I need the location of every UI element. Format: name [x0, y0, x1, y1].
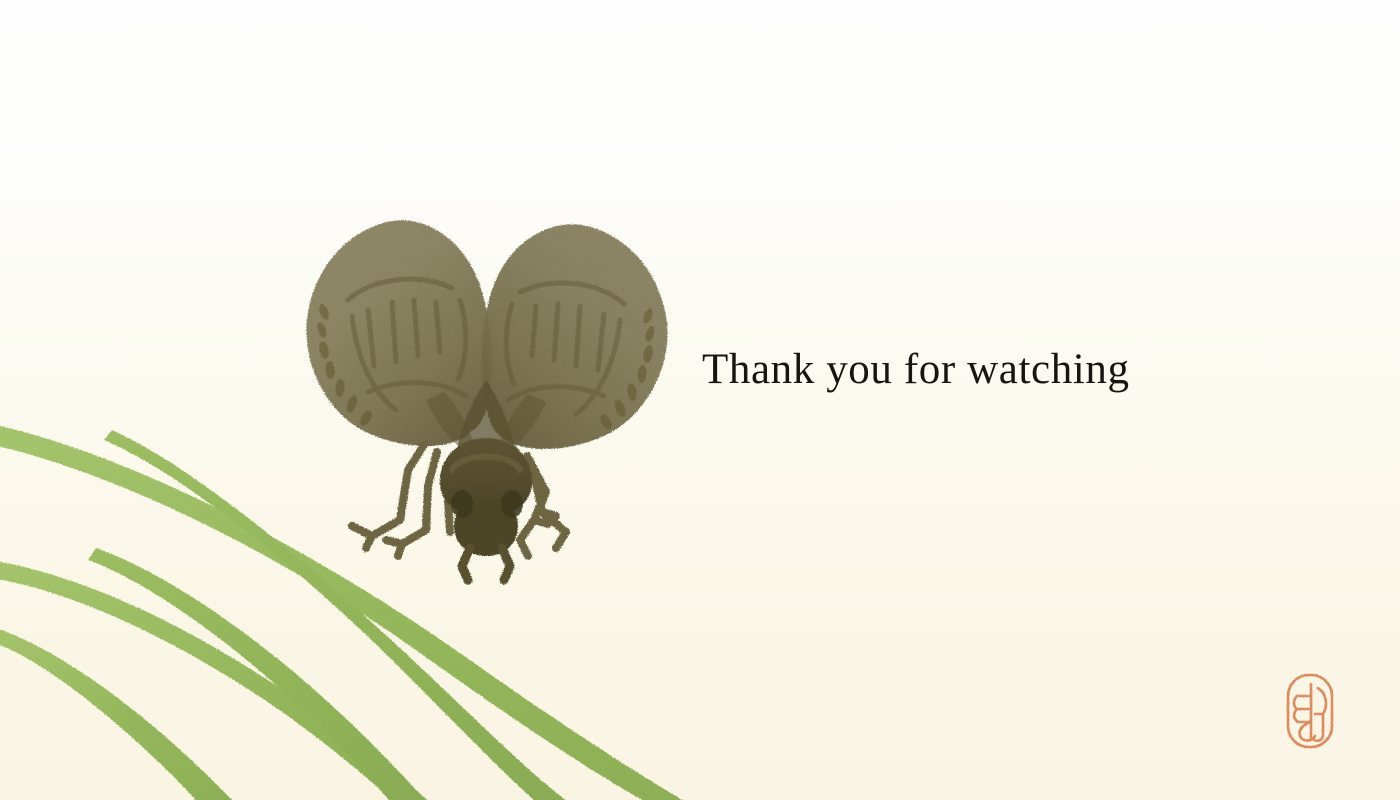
cicada-eye-right [501, 490, 523, 518]
grass-blade-2 [104, 430, 585, 800]
cicada-thorax [440, 438, 532, 516]
grass-blade-1 [0, 424, 700, 800]
artist-seal-icon [1285, 672, 1335, 750]
grass-illustration [0, 0, 1400, 800]
cicada-abdomen [456, 380, 516, 458]
cicada-illustration [0, 0, 1400, 800]
cicada-eye-left [451, 490, 473, 518]
grass-blade-4 [88, 548, 434, 800]
cicada-wing-right [482, 224, 668, 464]
page-title: Thank you for watching [702, 345, 1130, 394]
cicada-wing-left [306, 220, 491, 462]
cicada-head [451, 490, 523, 556]
cicada-forelegs [462, 548, 510, 580]
grass-blades [0, 424, 700, 800]
cicada-legs [352, 445, 566, 556]
grass-blade-3 [0, 560, 440, 800]
thank-you-slide: Thank you for watching [0, 0, 1400, 800]
grass-blade-5 [0, 626, 243, 800]
